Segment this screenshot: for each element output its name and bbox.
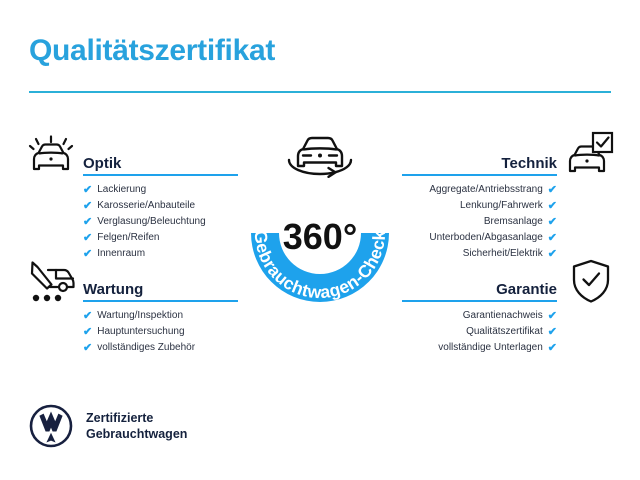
section-optik-divider [83,174,238,176]
car-shine-icon [26,131,76,175]
check-icon: ✔ [548,246,557,262]
list-item: ✔ Hauptuntersuchung [83,324,238,340]
list-item-label: Unterboden/Abgasanlage [429,230,542,246]
list-item-label: Lenkung/Fahrwerk [460,198,543,214]
check-icon: ✔ [83,340,92,356]
certificate-page: Qualitätszertifikat Optik ✔ Lackierung [0,0,640,480]
section-wartung: Wartung ✔ Wartung/Inspektion ✔ Hauptunte… [83,274,238,300]
list-item: Lenkung/Fahrwerk ✔ [402,198,557,214]
section-technik-list: Aggregate/Antriebsstrang ✔ Lenkung/Fahrw… [402,182,557,262]
badge-360-gebrauchtwagen-check: Gebrauchtwagen-Check 360° [231,148,409,318]
section-optik-list: ✔ Lackierung ✔ Karosserie/Anbauteile ✔ V… [83,182,238,262]
list-item: ✔ Felgen/Reifen [83,230,238,246]
section-technik-header: Technik [402,148,557,174]
car-checkbox-icon [566,130,614,176]
check-icon: ✔ [83,214,92,230]
list-item-label: Innenraum [97,246,145,262]
list-item: ✔ Karosserie/Anbauteile [83,198,238,214]
check-icon: ✔ [548,198,557,214]
list-item: Garantienachweis ✔ [402,308,557,324]
section-optik-header: Optik [83,148,238,174]
list-item: ✔ Innenraum [83,246,238,262]
list-item: ✔ Lackierung [83,182,238,198]
car-rotation-icon [281,124,359,186]
check-icon: ✔ [548,182,557,198]
check-icon: ✔ [548,230,557,246]
section-garantie-header: Garantie [402,274,557,300]
footer-logo-block: Zertifizierte Gebrauchtwagen [29,404,187,448]
check-icon: ✔ [83,230,92,246]
list-item-label: Lackierung [97,182,146,198]
section-technik-title: Technik [501,155,557,172]
section-wartung-list: ✔ Wartung/Inspektion ✔ Hauptuntersuchung… [83,308,238,356]
list-item: Qualitätszertifikat ✔ [402,324,557,340]
list-item-label: Garantienachweis [463,308,543,324]
check-icon: ✔ [83,198,92,214]
list-item: ✔ Verglasung/Beleuchtung [83,214,238,230]
car-wrench-icon [26,258,76,304]
list-item-label: Aggregate/Antriebsstrang [429,182,542,198]
list-item-label: Verglasung/Beleuchtung [97,214,205,230]
section-garantie-divider [402,300,557,302]
section-garantie: Garantie Garantienachweis ✔ Qualitätszer… [402,274,557,300]
section-wartung-divider [83,300,238,302]
page-title: Qualitätszertifikat [29,34,275,68]
list-item-label: Sicherheit/Elektrik [463,246,543,262]
check-icon: ✔ [548,340,557,356]
list-item-label: Qualitätszertifikat [466,324,543,340]
check-icon: ✔ [548,308,557,324]
list-item: Aggregate/Antriebsstrang ✔ [402,182,557,198]
list-item: Unterboden/Abgasanlage ✔ [402,230,557,246]
list-item: vollständige Unterlagen ✔ [402,340,557,356]
list-item-label: Wartung/Inspektion [97,308,183,324]
vw-logo [29,404,73,448]
section-technik: Technik Aggregate/Antriebsstrang ✔ Lenku… [402,148,557,174]
list-item-label: vollständige Unterlagen [438,340,543,356]
footer-text: Zertifizierte Gebrauchtwagen [86,410,187,442]
list-item-label: Bremsanlage [484,214,543,230]
section-optik-title: Optik [83,155,121,172]
section-garantie-title: Garantie [496,281,557,298]
section-garantie-list: Garantienachweis ✔ Qualitätszertifikat ✔… [402,308,557,356]
section-wartung-title: Wartung [83,281,143,298]
header-divider [29,91,611,93]
section-optik: Optik ✔ Lackierung ✔ Karosserie/Anbautei… [83,148,238,174]
check-icon: ✔ [83,182,92,198]
check-icon: ✔ [83,324,92,340]
list-item-label: Felgen/Reifen [97,230,159,246]
check-icon: ✔ [83,308,92,324]
check-icon: ✔ [83,246,92,262]
list-item: Sicherheit/Elektrik ✔ [402,246,557,262]
list-item-label: Hauptuntersuchung [97,324,184,340]
list-item: ✔ Wartung/Inspektion [83,308,238,324]
list-item: Bremsanlage ✔ [402,214,557,230]
shield-check-icon [570,258,612,304]
list-item: ✔ vollständiges Zubehör [83,340,238,356]
list-item-label: Karosserie/Anbauteile [97,198,195,214]
check-icon: ✔ [548,324,557,340]
list-item-label: vollständiges Zubehör [97,340,195,356]
check-icon: ✔ [548,214,557,230]
badge-center-label: 360° [283,216,357,257]
footer-line-2: Gebrauchtwagen [86,426,187,442]
section-wartung-header: Wartung [83,274,238,300]
footer-line-1: Zertifizierte [86,410,187,426]
section-technik-divider [402,174,557,176]
